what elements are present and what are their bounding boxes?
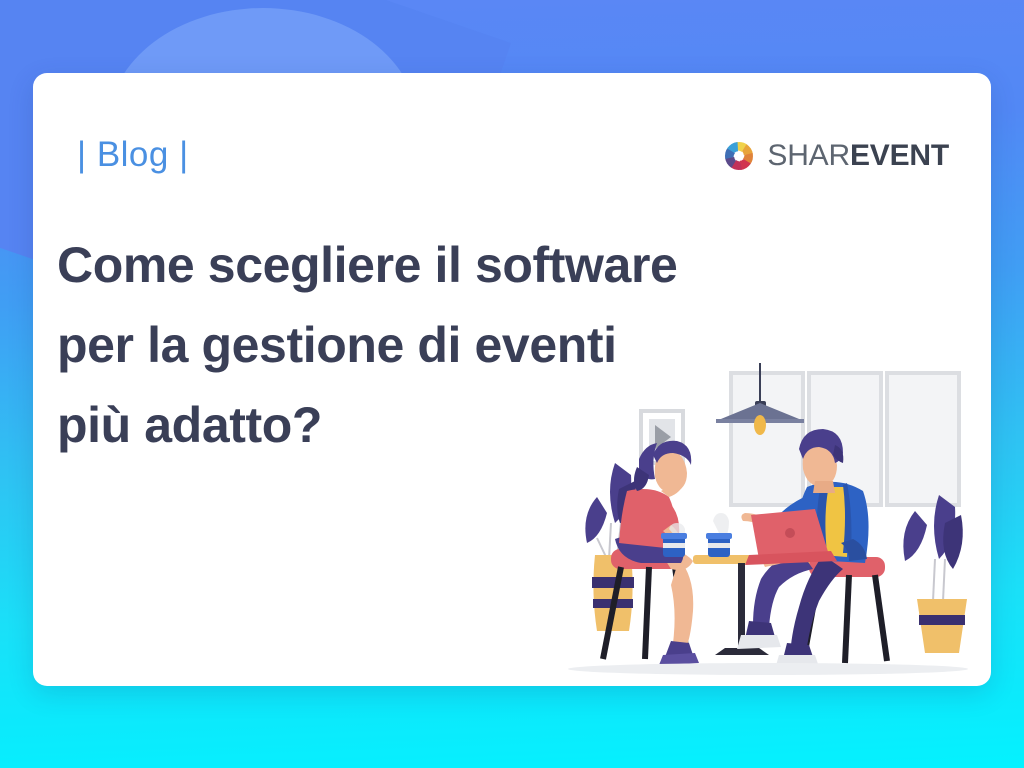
cafe-meeting-illustration xyxy=(553,363,983,683)
white-content-card: | Blog | SHAREVENT xyxy=(33,73,991,686)
floor-shadow xyxy=(568,663,968,675)
poster-canvas: | Blog | SHAREVENT xyxy=(0,0,1024,768)
brand-word-event: EVENT xyxy=(850,139,949,172)
brand-word-shar: SHAR xyxy=(767,139,850,172)
blog-kicker-label: | Blog | xyxy=(77,135,189,175)
sharevent-logo: SHAREVENT xyxy=(722,139,949,173)
plant-right xyxy=(903,495,967,653)
headline-line-1: Come scegliere il software xyxy=(57,225,817,305)
sharevent-aperture-icon xyxy=(722,139,756,173)
sharevent-wordmark: SHAREVENT xyxy=(767,141,949,171)
